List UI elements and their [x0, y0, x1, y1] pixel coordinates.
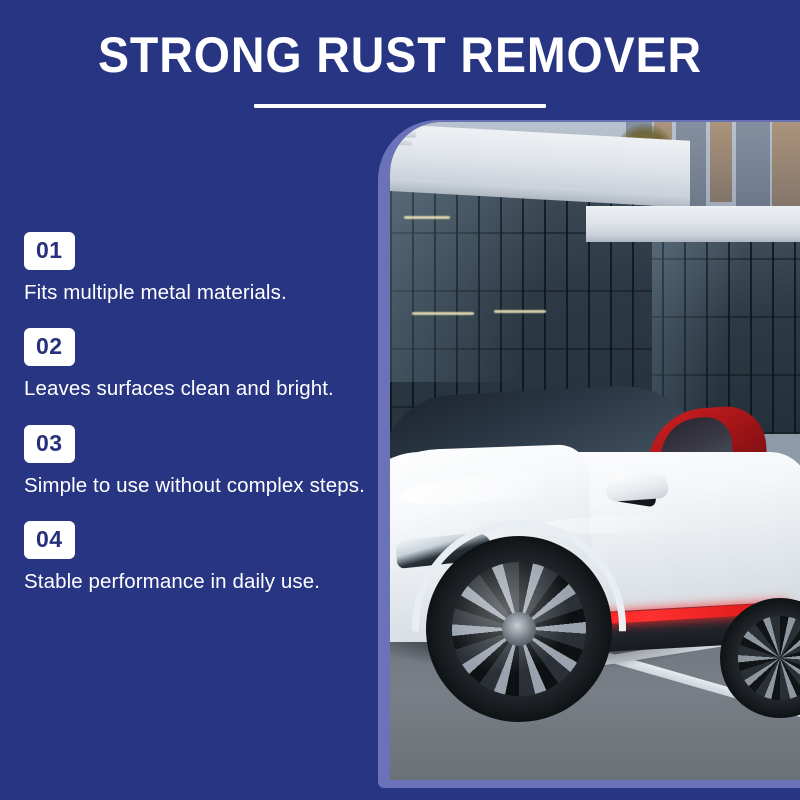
title-block: STRONG RUST REMOVER [0, 28, 800, 108]
feature-text: Stable performance in daily use. [24, 568, 376, 595]
feature-text: Simple to use without complex steps. [24, 472, 376, 499]
feature-number-badge: 03 [24, 425, 75, 463]
building-canopy-right-edge [586, 234, 800, 242]
feature-item-03: 03 Simple to use without complex steps. [24, 425, 376, 499]
photo-scene [390, 122, 800, 780]
product-photo [390, 122, 800, 780]
feature-list: 01 Fits multiple metal materials. 02 Lea… [24, 232, 376, 595]
title-divider [254, 104, 546, 108]
feature-item-02: 02 Leaves surfaces clean and bright. [24, 328, 376, 402]
feature-item-04: 04 Stable performance in daily use. [24, 521, 376, 595]
building-canopy-right [586, 206, 800, 236]
interior-light [404, 216, 450, 219]
feature-text: Leaves surfaces clean and bright. [24, 375, 376, 402]
feature-number-badge: 01 [24, 232, 75, 270]
city-tower [710, 122, 732, 202]
car-side-mirror [605, 472, 669, 502]
feature-number-badge: 02 [24, 328, 75, 366]
feature-item-01: 01 Fits multiple metal materials. [24, 232, 376, 306]
city-tower [772, 122, 800, 212]
page-title: STRONG RUST REMOVER [28, 28, 772, 82]
car-charge-port [390, 137, 412, 146]
interior-light [412, 312, 474, 315]
feature-number-badge: 04 [24, 521, 75, 559]
product-poster: STRONG RUST REMOVER [0, 0, 800, 800]
interior-light [494, 310, 546, 313]
feature-text: Fits multiple metal materials. [24, 279, 376, 306]
